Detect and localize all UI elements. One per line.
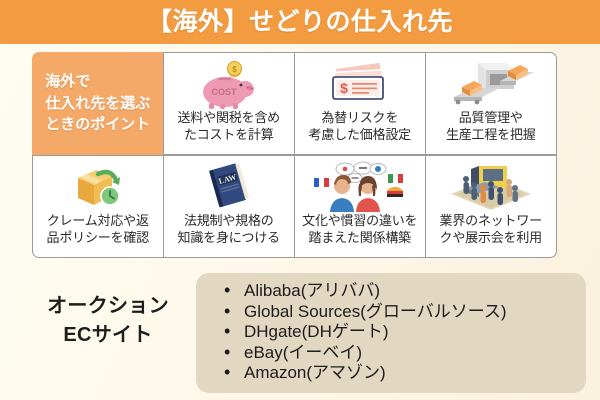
law-book-icon: LAW <box>164 156 294 212</box>
list-item: DHgate(DHゲート) <box>222 322 586 343</box>
grid-cell-caption: 法規制や規格の 知識を身につける <box>177 212 281 248</box>
grid-cell-culture: 文化や慣習の違いを 踏まえた関係構築 <box>294 155 426 258</box>
grid-cell-caption: 品質管理や 生産工程を把握 <box>445 109 537 145</box>
list-item: Amazon(アマゾン) <box>222 363 586 384</box>
auction-ec-label: オークション ECサイト <box>24 292 192 350</box>
list-item: Global Sources(グローバルソース) <box>222 302 586 323</box>
grid-cell-quality-control: 品質管理や 生産工程を把握 <box>425 52 557 155</box>
return-parcel-clock-icon <box>33 156 163 212</box>
infographic-poster: 【海外】せどりの仕入れ先 海外で 仕入れ先を選ぶ ときのポイント $ <box>0 0 600 400</box>
page-title: 【海外】せどりの仕入れ先 <box>147 10 453 35</box>
grid-cell-caption: 為替リスクを 考慮した価格設定 <box>308 109 412 145</box>
list-item: eBay(イーベイ) <box>222 343 586 364</box>
svg-text:COST: COST <box>211 87 237 97</box>
trade-show-booth-icon <box>426 156 556 212</box>
grid-cell-exchange-rate: $ 為替リスクを 考慮した価格設定 <box>294 52 426 155</box>
grid-heading-text: 海外で 仕入れ先を選ぶ ときのポイント <box>45 71 150 136</box>
svg-text:$: $ <box>340 80 348 96</box>
grid-cell-network: 業界のネットワー クや展示会を利用 <box>425 155 557 258</box>
grid-cell-caption: クレーム対応や返 品ポリシーを確認 <box>46 212 150 248</box>
grid-cell-return-policy: クレーム対応や返 品ポリシーを確認 <box>32 155 164 258</box>
points-grid: 海外で 仕入れ先を選ぶ ときのポイント $ <box>32 52 558 258</box>
site-list: Alibaba(アリババ) Global Sources(グローバルソース) D… <box>222 281 586 384</box>
conveyor-belt-factory-icon <box>426 53 556 109</box>
svg-text:$: $ <box>232 65 237 74</box>
grid-cell-heading: 海外で 仕入れ先を選ぶ ときのポイント <box>32 52 164 155</box>
piggy-bank-icon: $ COST <box>164 53 294 109</box>
header-bar: 【海外】せどりの仕入れ先 <box>0 0 600 44</box>
list-item: Alibaba(アリババ) <box>222 281 586 302</box>
grid-cell-caption: 送料や関税を含め たコストを計算 <box>177 109 281 145</box>
people-conversation-flags-icon <box>295 156 425 212</box>
grid-cell-caption: 文化や慣習の違いを 踏まえた関係構築 <box>301 212 418 248</box>
grid-cell-caption: 業界のネットワー クや展示会を利用 <box>439 212 543 248</box>
cheque-money-icon: $ <box>295 53 425 109</box>
grid-cell-regulations: LAW 法規制や規格の 知識を身につける <box>163 155 295 258</box>
site-list-panel: Alibaba(アリババ) Global Sources(グローバルソース) D… <box>196 273 586 393</box>
grid-cell-cost: $ COST 送料や関税を含め たコストを計算 <box>163 52 295 155</box>
